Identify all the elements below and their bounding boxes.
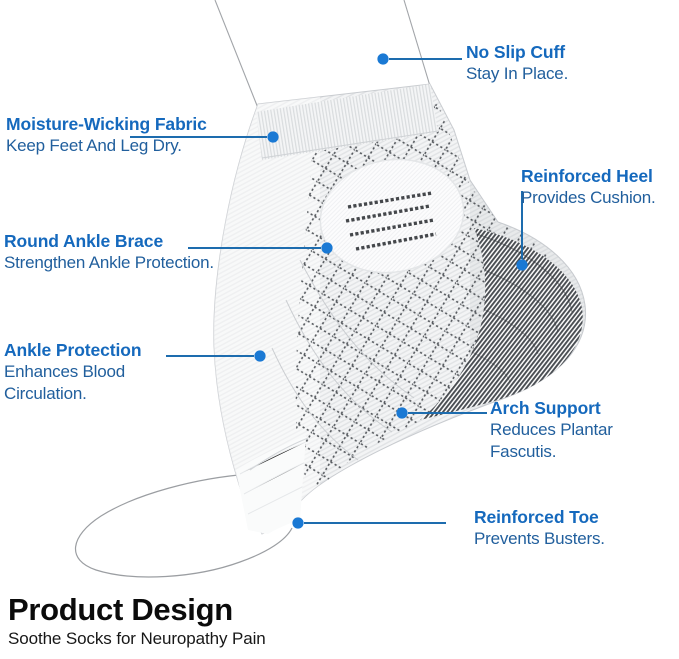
- callout-moisture-wicking-fabric: Moisture-Wicking Fabric Keep Feet And Le…: [6, 114, 207, 157]
- page-subtitle: Soothe Socks for Neuropathy Pain: [8, 628, 266, 650]
- callout-title: Ankle Protection: [4, 340, 141, 361]
- callout-title: Reinforced Heel: [521, 166, 656, 187]
- callout-title: No Slip Cuff: [466, 42, 568, 63]
- callout-subtitle: Prevents Busters.: [474, 528, 605, 550]
- callout-title: Moisture-Wicking Fabric: [6, 114, 207, 135]
- callout-subtitle-line1: Reduces Plantar: [490, 419, 613, 441]
- footer: Product Design Soothe Socks for Neuropat…: [8, 592, 266, 650]
- sock-body: [200, 76, 620, 550]
- callout-reinforced-heel: Reinforced Heel Provides Cushion.: [521, 166, 656, 209]
- callout-arch-support: Arch Support Reduces Plantar Fascutis.: [490, 398, 613, 462]
- callout-round-ankle-brace: Round Ankle Brace Strengthen Ankle Prote…: [4, 231, 214, 274]
- callout-reinforced-toe: Reinforced Toe Prevents Busters.: [474, 507, 605, 550]
- callout-ankle-protection: Ankle Protection Enhances Blood Circulat…: [4, 340, 141, 404]
- sock-illustration: [0, 0, 679, 659]
- callout-subtitle: Stay In Place.: [466, 63, 568, 85]
- callout-subtitle: Provides Cushion.: [521, 187, 656, 209]
- callout-subtitle: Strengthen Ankle Protection.: [4, 252, 214, 274]
- callout-title: Arch Support: [490, 398, 613, 419]
- product-infographic: No Slip Cuff Stay In Place. Moisture-Wic…: [0, 0, 679, 659]
- callout-subtitle-line1: Enhances Blood: [4, 361, 141, 383]
- callout-title: Reinforced Toe: [474, 507, 605, 528]
- callout-no-slip-cuff: No Slip Cuff Stay In Place.: [466, 42, 568, 85]
- page-title: Product Design: [8, 592, 266, 628]
- callout-subtitle-line2: Circulation.: [4, 383, 141, 405]
- callout-subtitle: Keep Feet And Leg Dry.: [6, 135, 207, 157]
- callout-subtitle-line2: Fascutis.: [490, 441, 613, 463]
- callout-title: Round Ankle Brace: [4, 231, 214, 252]
